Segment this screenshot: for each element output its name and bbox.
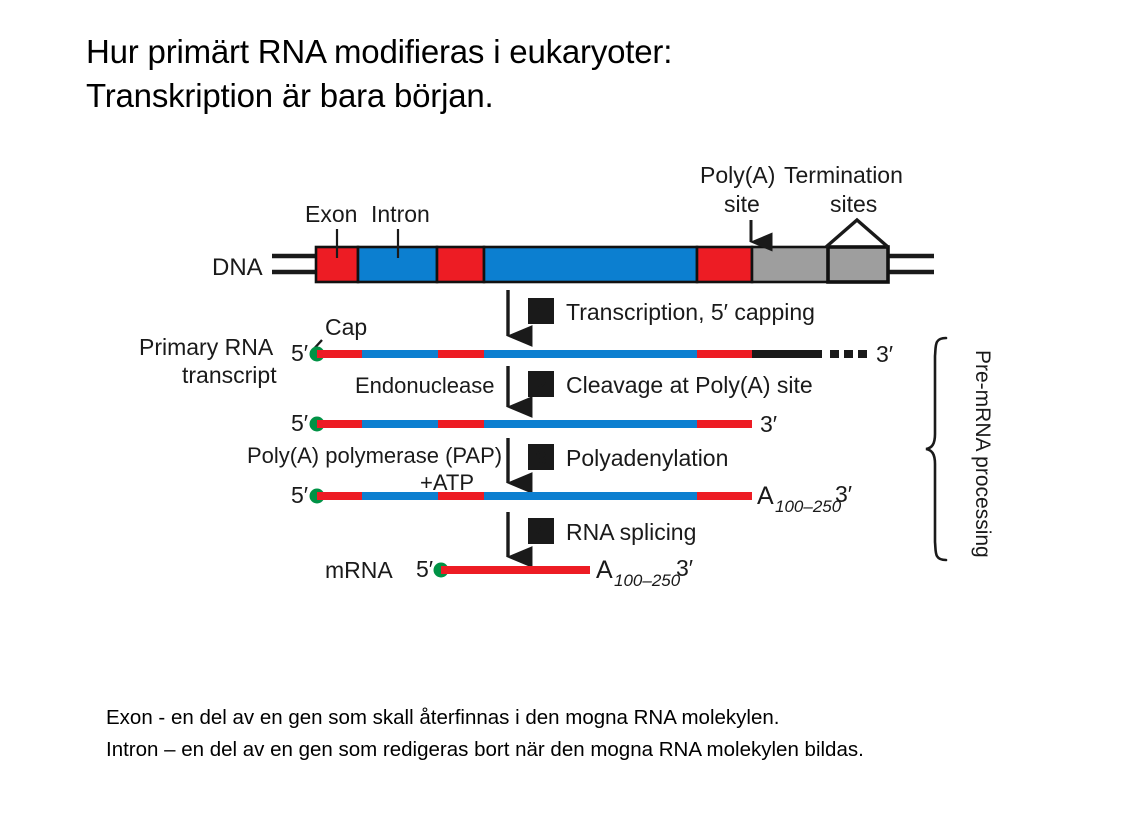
dna-exon-3 <box>697 247 752 282</box>
exon-label: Exon <box>305 201 357 227</box>
slide-title-line-2: Transkription är bara början. <box>86 74 1046 118</box>
dna-right-strand <box>886 256 934 272</box>
polyadenylated-3-prime: 3′ <box>835 481 852 507</box>
mrna-3-prime: 3′ <box>676 555 693 581</box>
polyadenylated-exon-3 <box>697 492 752 500</box>
step-2-group: Endonuclease 2 Cleavage at Poly(A) site <box>355 366 813 407</box>
termination-sites-label-line1: Termination <box>784 162 903 188</box>
dna-exon-2 <box>437 247 484 282</box>
caption-line-exon: Exon - en del av en gen som skall återfi… <box>106 702 1086 734</box>
mrna-coding-segment <box>441 566 590 574</box>
pap-label: Poly(A) polymerase (PAP) <box>247 443 502 468</box>
step-4-number: 4 <box>535 522 547 544</box>
slide-caption: Exon - en del av en gen som skall återfi… <box>106 702 1086 766</box>
endonuclease-label: Endonuclease <box>355 373 494 398</box>
cleaved-transcript-row: 5′ 3′ <box>291 410 777 437</box>
polyadenylated-exon-2 <box>438 492 484 500</box>
dna-row: DNA Exon Intron Poly(A) site <box>212 162 934 282</box>
primary-exon-1 <box>317 350 362 358</box>
polyadenylated-intron-1 <box>362 492 438 500</box>
dna-row-label: DNA <box>212 254 263 281</box>
rna-processing-diagram: DNA Exon Intron Poly(A) site <box>0 150 1140 620</box>
atp-label: +ATP <box>420 470 474 495</box>
dna-terminator-2 <box>828 247 888 282</box>
primary-transcript-label-line1: Primary RNA <box>139 334 274 360</box>
polyadenylated-transcript-row: 5′ A 100–250 3′ <box>291 481 852 516</box>
dna-left-strand <box>272 256 318 272</box>
dna-intron-2 <box>484 247 697 282</box>
primary-transcript-3-prime: 3′ <box>876 341 893 367</box>
primary-transcript-5-prime: 5′ <box>291 340 308 366</box>
cap-label: Cap <box>325 314 367 340</box>
primary-transcript-label-line2: transcript <box>182 362 277 388</box>
slide-title: Hur primärt RNA modifieras i eukaryoter:… <box>86 30 1046 117</box>
cleaved-exon-1 <box>317 420 362 428</box>
step-1-number: 1 <box>535 302 546 324</box>
primary-tail-dashes <box>830 350 867 358</box>
step-4-group: 4 RNA splicing <box>508 512 696 557</box>
mrna-row: mRNA 5′ A 100–250 3′ <box>325 555 693 590</box>
step-3-number: 3 <box>535 448 546 470</box>
slide-title-line-1: Hur primärt RNA modifieras i eukaryoter: <box>86 30 1046 74</box>
primary-exon-3 <box>697 350 752 358</box>
intron-label: Intron <box>371 201 430 227</box>
pre-mrna-processing-bracket: Pre-mRNA processing <box>926 338 994 560</box>
diagram-svg: DNA Exon Intron Poly(A) site <box>0 150 1140 620</box>
step-1-group: 1 Transcription, 5′ capping <box>508 290 815 336</box>
cleaved-intron-1 <box>362 420 438 428</box>
primary-intron-1 <box>362 350 438 358</box>
step-2-label: Cleavage at Poly(A) site <box>566 372 813 398</box>
primary-tail-solid <box>752 350 822 358</box>
termination-tent-bracket <box>826 220 888 247</box>
polyadenylated-5-prime: 5′ <box>291 482 308 508</box>
polyadenylated-exon-1 <box>317 492 362 500</box>
mrna-polya-subscript: 100–250 <box>614 571 681 590</box>
mrna-polya-tail: A <box>596 556 613 584</box>
polyadenylated-polya-subscript: 100–250 <box>775 497 842 516</box>
cleaved-exon-2 <box>438 420 484 428</box>
dna-gene-body <box>316 247 888 282</box>
step-3-label: Polyadenylation <box>566 445 728 471</box>
polyadenylated-polya-tail: A <box>757 482 774 510</box>
dna-terminator-1 <box>752 247 828 282</box>
polya-site-label-line1: Poly(A) <box>700 162 775 188</box>
polyadenylated-intron-2 <box>484 492 697 500</box>
primary-intron-2 <box>484 350 697 358</box>
termination-sites-label-line2: sites <box>830 191 877 217</box>
step-2-number: 2 <box>535 375 546 397</box>
mrna-row-label: mRNA <box>325 557 393 583</box>
cleaved-intron-2 <box>484 420 697 428</box>
mrna-5-prime: 5′ <box>416 556 433 582</box>
caption-line-intron: Intron – en del av en gen som redigeras … <box>106 734 1086 766</box>
step-3-group: Poly(A) polymerase (PAP) +ATP 3 Polyaden… <box>247 438 728 495</box>
step-1-label: Transcription, 5′ capping <box>566 299 815 325</box>
cleaved-exon-3 <box>697 420 752 428</box>
step-4-label: RNA splicing <box>566 519 696 545</box>
pre-mrna-processing-label: Pre-mRNA processing <box>971 350 994 558</box>
cleaved-5-prime: 5′ <box>291 410 308 436</box>
polya-site-label-line2: site <box>724 191 760 217</box>
primary-exon-2 <box>438 350 484 358</box>
cleaved-3-prime: 3′ <box>760 411 777 437</box>
